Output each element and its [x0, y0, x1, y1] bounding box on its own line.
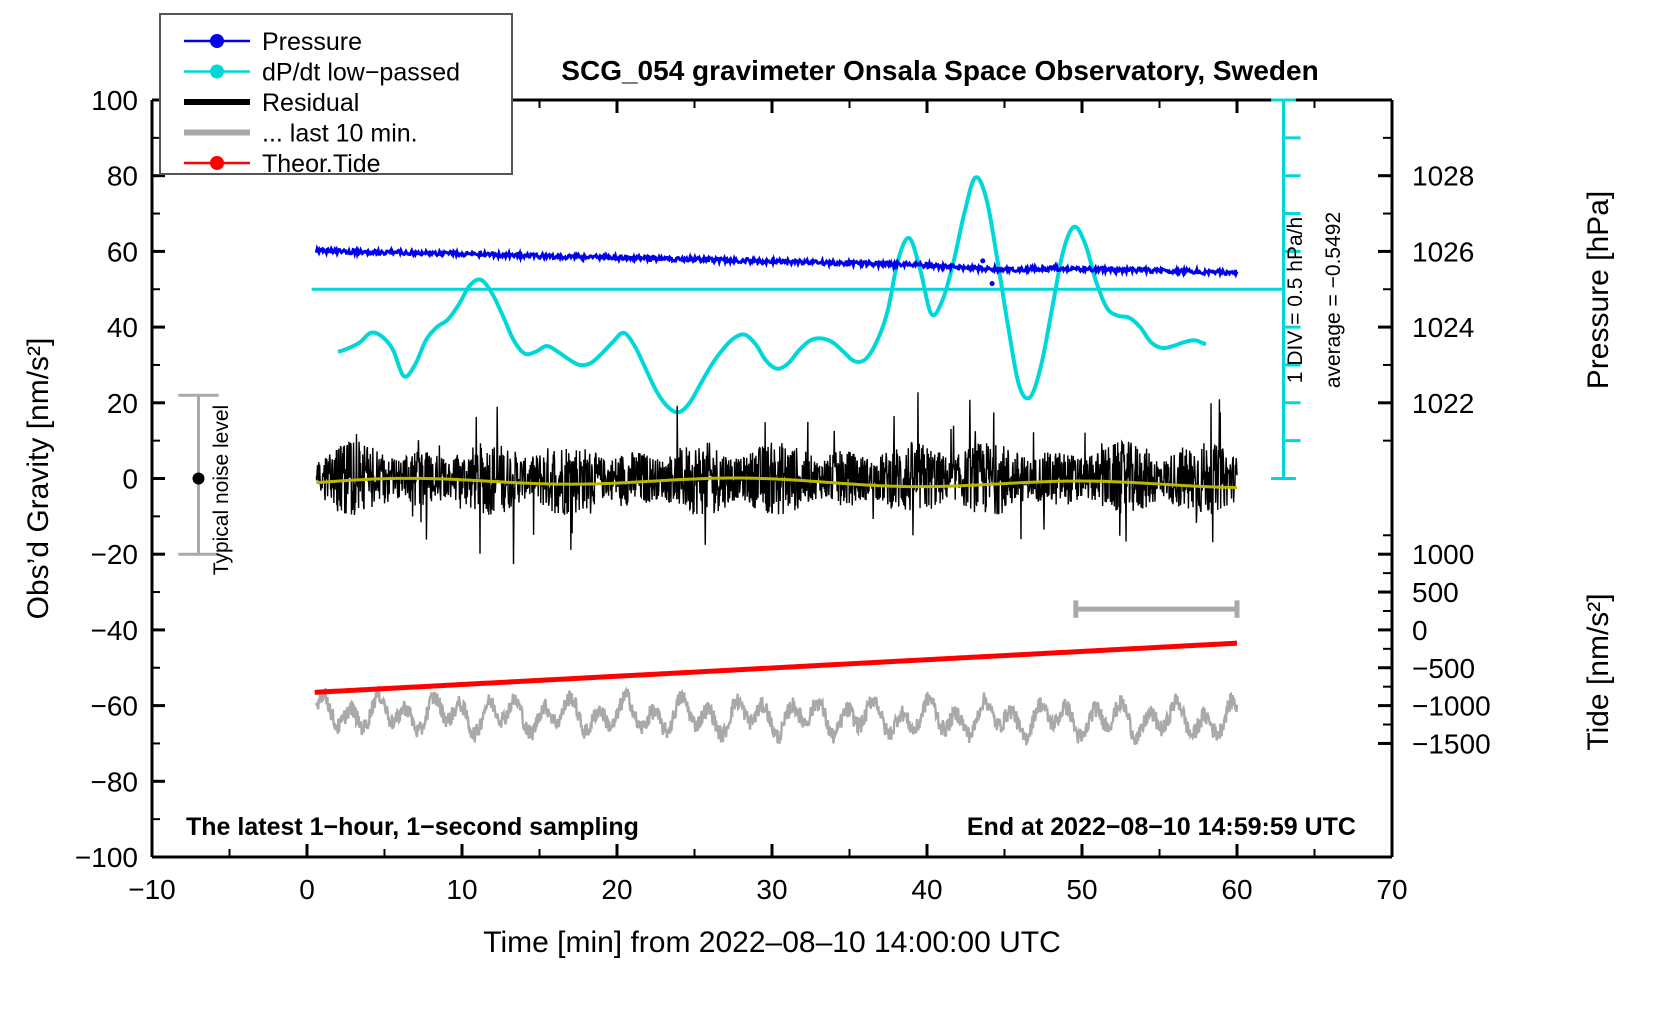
pressure-outlier-point: [980, 258, 985, 263]
y-tick-label: −80: [91, 766, 139, 797]
pressure-tick-label: 1028: [1412, 161, 1474, 192]
legend-marker: [210, 34, 224, 48]
y-tick-label: −20: [91, 539, 139, 570]
x-tick-label: 30: [756, 874, 787, 905]
average-label: average = −0.5492: [1322, 212, 1345, 388]
x-tick-label: 60: [1221, 874, 1252, 905]
legend-marker: [210, 65, 224, 79]
y-tick-label: 0: [122, 464, 138, 495]
pressure-tick-label: 1024: [1412, 312, 1474, 343]
end-time-note: End at 2022−08−10 14:59:59 UTC: [967, 813, 1356, 841]
tide-tick-label: 0: [1412, 615, 1428, 646]
div-scale-label: 1 DIV = 0.5 hPa/h: [1284, 217, 1307, 383]
y-axis-label-pressure: Pressure [hPa]: [1582, 191, 1615, 389]
tide-tick-label: −1000: [1412, 691, 1491, 722]
x-tick-label: 0: [299, 874, 315, 905]
pressure-tick-label: 1022: [1412, 388, 1474, 419]
x-tick-label: 10: [446, 874, 477, 905]
y-tick-label: −40: [91, 615, 139, 646]
x-tick-label: 20: [601, 874, 632, 905]
legend-label-0: Pressure: [262, 28, 362, 56]
noise-level-point: [193, 473, 205, 485]
x-tick-label: −10: [128, 874, 176, 905]
x-tick-label: 40: [911, 874, 942, 905]
tide-tick-label: −500: [1412, 653, 1475, 684]
y-tick-label: 40: [107, 312, 138, 343]
pressure-outlier-point: [990, 281, 995, 286]
y-axis-label-tide: Tide [nm/s²]: [1582, 593, 1615, 750]
legend-label-1: dP/dt low−passed: [262, 59, 460, 87]
legend-marker: [210, 156, 224, 170]
y-tick-label: 60: [107, 236, 138, 267]
y-tick-label: −60: [91, 691, 139, 722]
chart-title: SCG_054 gravimeter Onsala Space Observat…: [561, 55, 1318, 86]
tide-tick-label: 1000: [1412, 539, 1474, 570]
legend-label-2: Residual: [262, 89, 359, 117]
y-tick-label: 100: [91, 85, 138, 116]
y-tick-label: 80: [107, 161, 138, 192]
noise-level-label: Typical noise level: [210, 405, 233, 575]
y-tick-label: −100: [75, 842, 138, 873]
tide-tick-label: 500: [1412, 577, 1459, 608]
legend-label-4: Theor.Tide: [262, 150, 381, 178]
sampling-note: The latest 1−hour, 1−second sampling: [186, 813, 639, 841]
y-tick-label: 20: [107, 388, 138, 419]
pressure-tick-label: 1026: [1412, 236, 1474, 267]
chart-root: −10010203040506070−100−80−60−40−20020406…: [0, 0, 1660, 1020]
y-axis-label-left: Obs’d Gravity [nm/s²]: [22, 338, 55, 620]
x-tick-label: 70: [1376, 874, 1407, 905]
x-axis-label: Time [min] from 2022–08–10 14:00:00 UTC: [483, 926, 1061, 959]
x-tick-label: 50: [1066, 874, 1097, 905]
tide-tick-label: −1500: [1412, 728, 1491, 759]
gravimeter-plot: −10010203040506070−100−80−60−40−20020406…: [0, 0, 1660, 1020]
legend-label-3: ... last 10 min.: [262, 120, 418, 148]
